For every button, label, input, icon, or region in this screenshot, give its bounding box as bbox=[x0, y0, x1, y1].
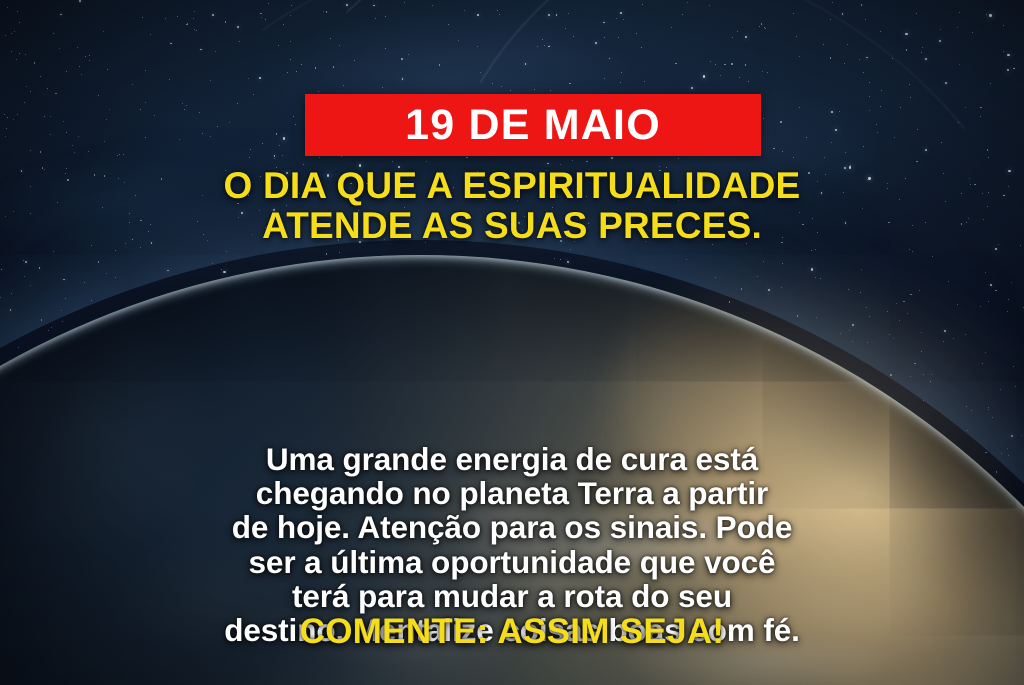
headline-line-2: ATENDE AS SUAS PRECES. bbox=[0, 206, 1024, 246]
poster-canvas: 19 DE MAIO O DIA QUE A ESPIRITUALIDADE A… bbox=[0, 0, 1024, 685]
poster-content: 19 DE MAIO O DIA QUE A ESPIRITUALIDADE A… bbox=[0, 0, 1024, 685]
body-line-2: chegando no planeta Terra a partir bbox=[0, 476, 1024, 510]
cta-text: COMENTE: ASSIM SEJA! bbox=[0, 613, 1024, 652]
body-line-1: Uma grande energia de cura está bbox=[0, 442, 1024, 476]
body-line-4: ser a última oportunidade que você bbox=[0, 545, 1024, 579]
headline: O DIA QUE A ESPIRITUALIDADE ATENDE AS SU… bbox=[0, 166, 1024, 246]
body-line-3: de hoje. Atenção para os sinais. Pode bbox=[0, 510, 1024, 544]
body-line-5: terá para mudar a rota do seu bbox=[0, 579, 1024, 613]
date-banner: 19 DE MAIO bbox=[305, 94, 761, 156]
date-banner-text: 19 DE MAIO bbox=[405, 104, 661, 147]
headline-line-1: O DIA QUE A ESPIRITUALIDADE bbox=[0, 166, 1024, 206]
